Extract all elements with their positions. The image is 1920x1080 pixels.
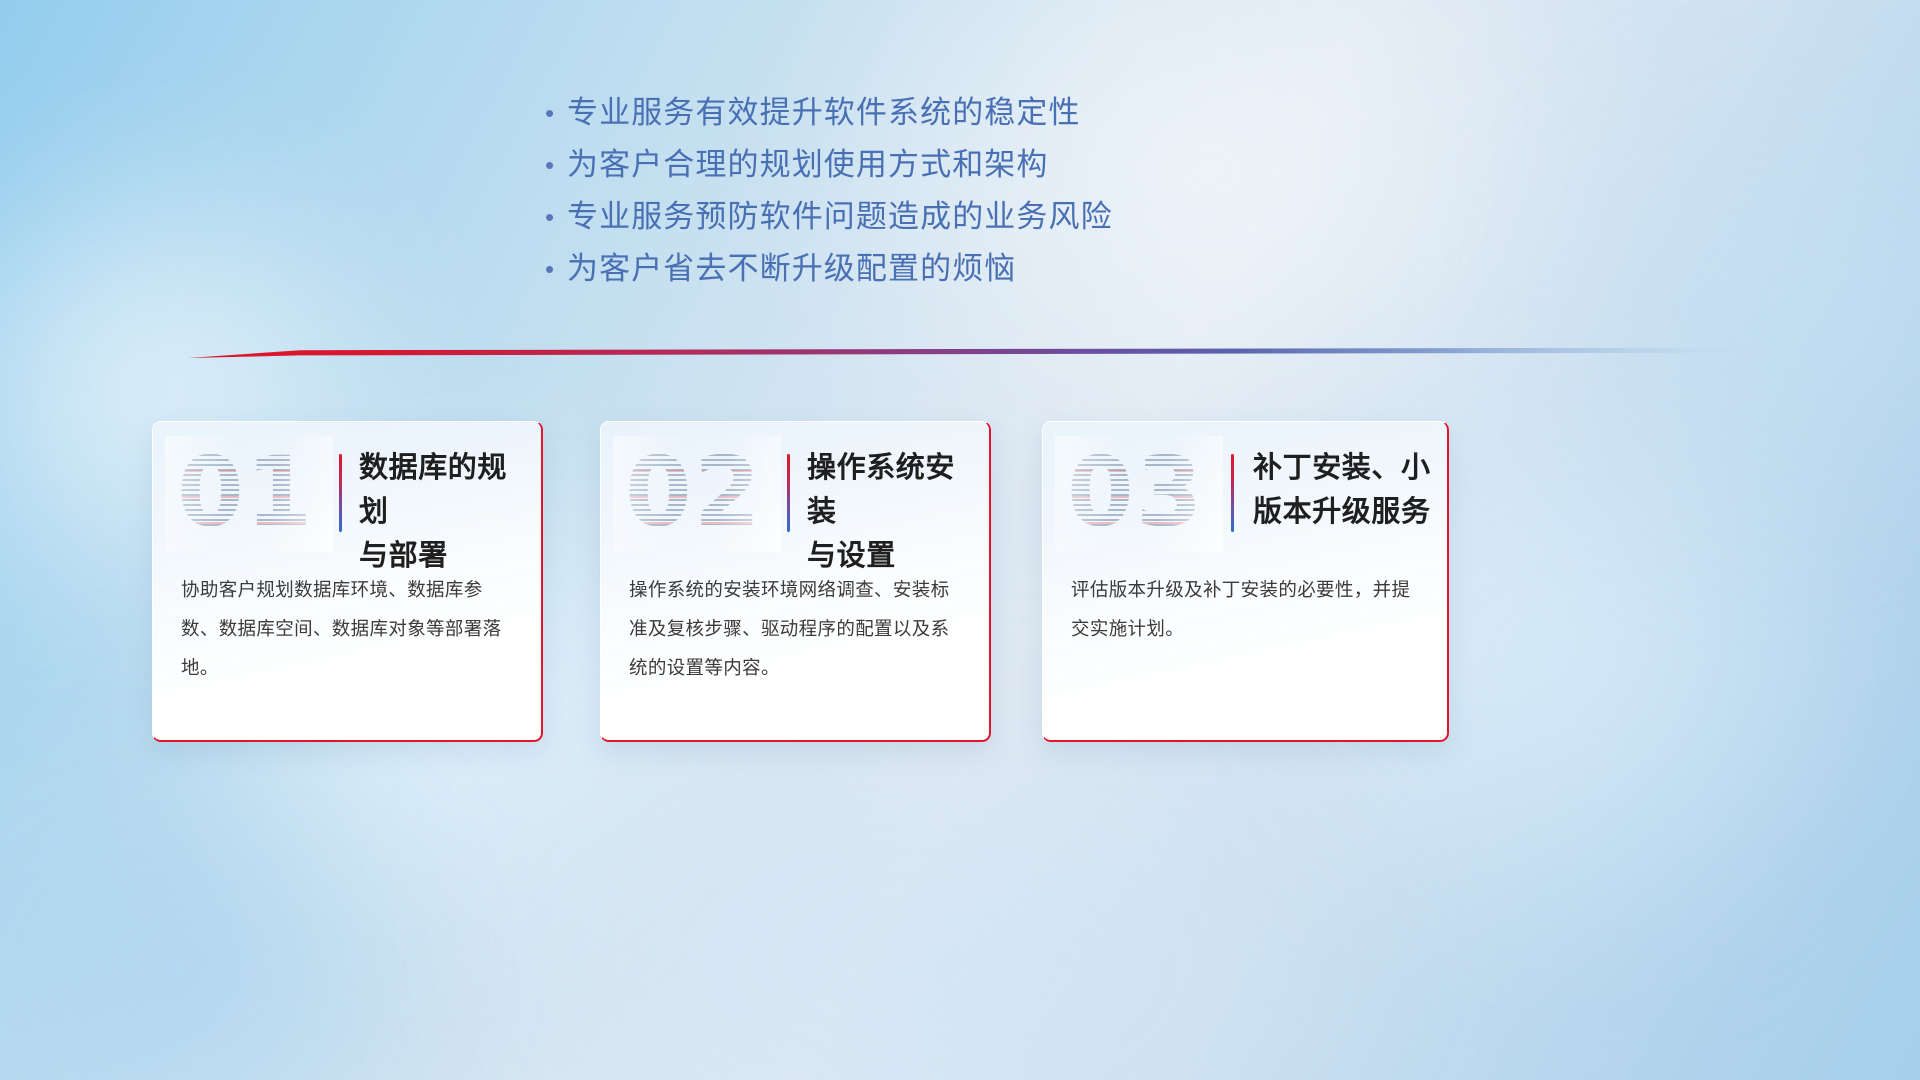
section-divider [150, 344, 1770, 361]
list-item-label: 为客户合理的规划使用方式和架构 [567, 144, 1049, 186]
list-item-label: 为客户省去不断升级配置的烦恼 [567, 248, 1016, 290]
service-card[interactable]: 01 01 数据库的规划 与部署 协助客户规划数据库环境、数据库参数、数据库空间… [152, 421, 543, 742]
card-header: 02 02 操作系统安装 与设置 [601, 422, 989, 544]
service-card[interactable]: 02 02 操作系统安装 与设置 操作系统的安装环境网络调查、安装标准及复核步骤… [600, 421, 991, 742]
slide-canvas: • 专业服务有效提升软件系统的稳定性 • 为客户合理的规划使用方式和架构 • 专… [0, 0, 1920, 1080]
benefits-bullet-list: • 专业服务有效提升软件系统的稳定性 • 为客户合理的规划使用方式和架构 • 专… [545, 92, 1445, 300]
list-item: • 专业服务预防软件问题造成的业务风险 [545, 196, 1445, 248]
title-accent-bar [1231, 454, 1234, 532]
title-accent-bar [787, 454, 790, 532]
card-number-ghost-tint: 01 [177, 444, 309, 540]
card-number-ghost-tint: 03 [1067, 444, 1199, 540]
bullet-marker-icon: • [545, 196, 567, 238]
card-title-line-1: 补丁安装、小 [1253, 446, 1443, 490]
card-title-line-2: 版本升级服务 [1253, 490, 1443, 534]
list-item: • 为客户省去不断升级配置的烦恼 [545, 248, 1445, 300]
card-description: 协助客户规划数据库环境、数据库参数、数据库空间、数据库对象等部署落地。 [181, 570, 517, 687]
bullet-marker-icon: • [545, 92, 567, 134]
bullet-marker-icon: • [545, 248, 567, 290]
card-title-line-1: 操作系统安装 [807, 446, 977, 534]
list-item-label: 专业服务预防软件问题造成的业务风险 [567, 196, 1113, 238]
list-item: • 专业服务有效提升软件系统的稳定性 [545, 92, 1445, 144]
card-title: 数据库的规划 与部署 [359, 446, 529, 578]
bullet-marker-icon: • [545, 144, 567, 186]
card-number-ghost-tint: 02 [625, 444, 757, 540]
card-title: 补丁安装、小 版本升级服务 [1253, 446, 1443, 534]
title-accent-bar [339, 454, 342, 532]
service-card-group: 01 01 数据库的规划 与部署 协助客户规划数据库环境、数据库参数、数据库空间… [0, 421, 1920, 751]
card-header: 03 03 补丁安装、小 版本升级服务 [1043, 422, 1447, 544]
card-description: 操作系统的安装环境网络调查、安装标准及复核步骤、驱动程序的配置以及系统的设置等内… [629, 570, 965, 687]
card-header: 01 01 数据库的规划 与部署 [153, 422, 541, 544]
list-item: • 为客户合理的规划使用方式和架构 [545, 144, 1445, 196]
list-item-label: 专业服务有效提升软件系统的稳定性 [567, 92, 1081, 134]
card-description: 评估版本升级及补丁安装的必要性，并提交实施计划。 [1071, 570, 1423, 648]
card-title-line-1: 数据库的规划 [359, 446, 529, 534]
service-card[interactable]: 03 03 补丁安装、小 版本升级服务 评估版本升级及补丁安装的必要性，并提交实… [1042, 421, 1449, 742]
card-title: 操作系统安装 与设置 [807, 446, 977, 578]
